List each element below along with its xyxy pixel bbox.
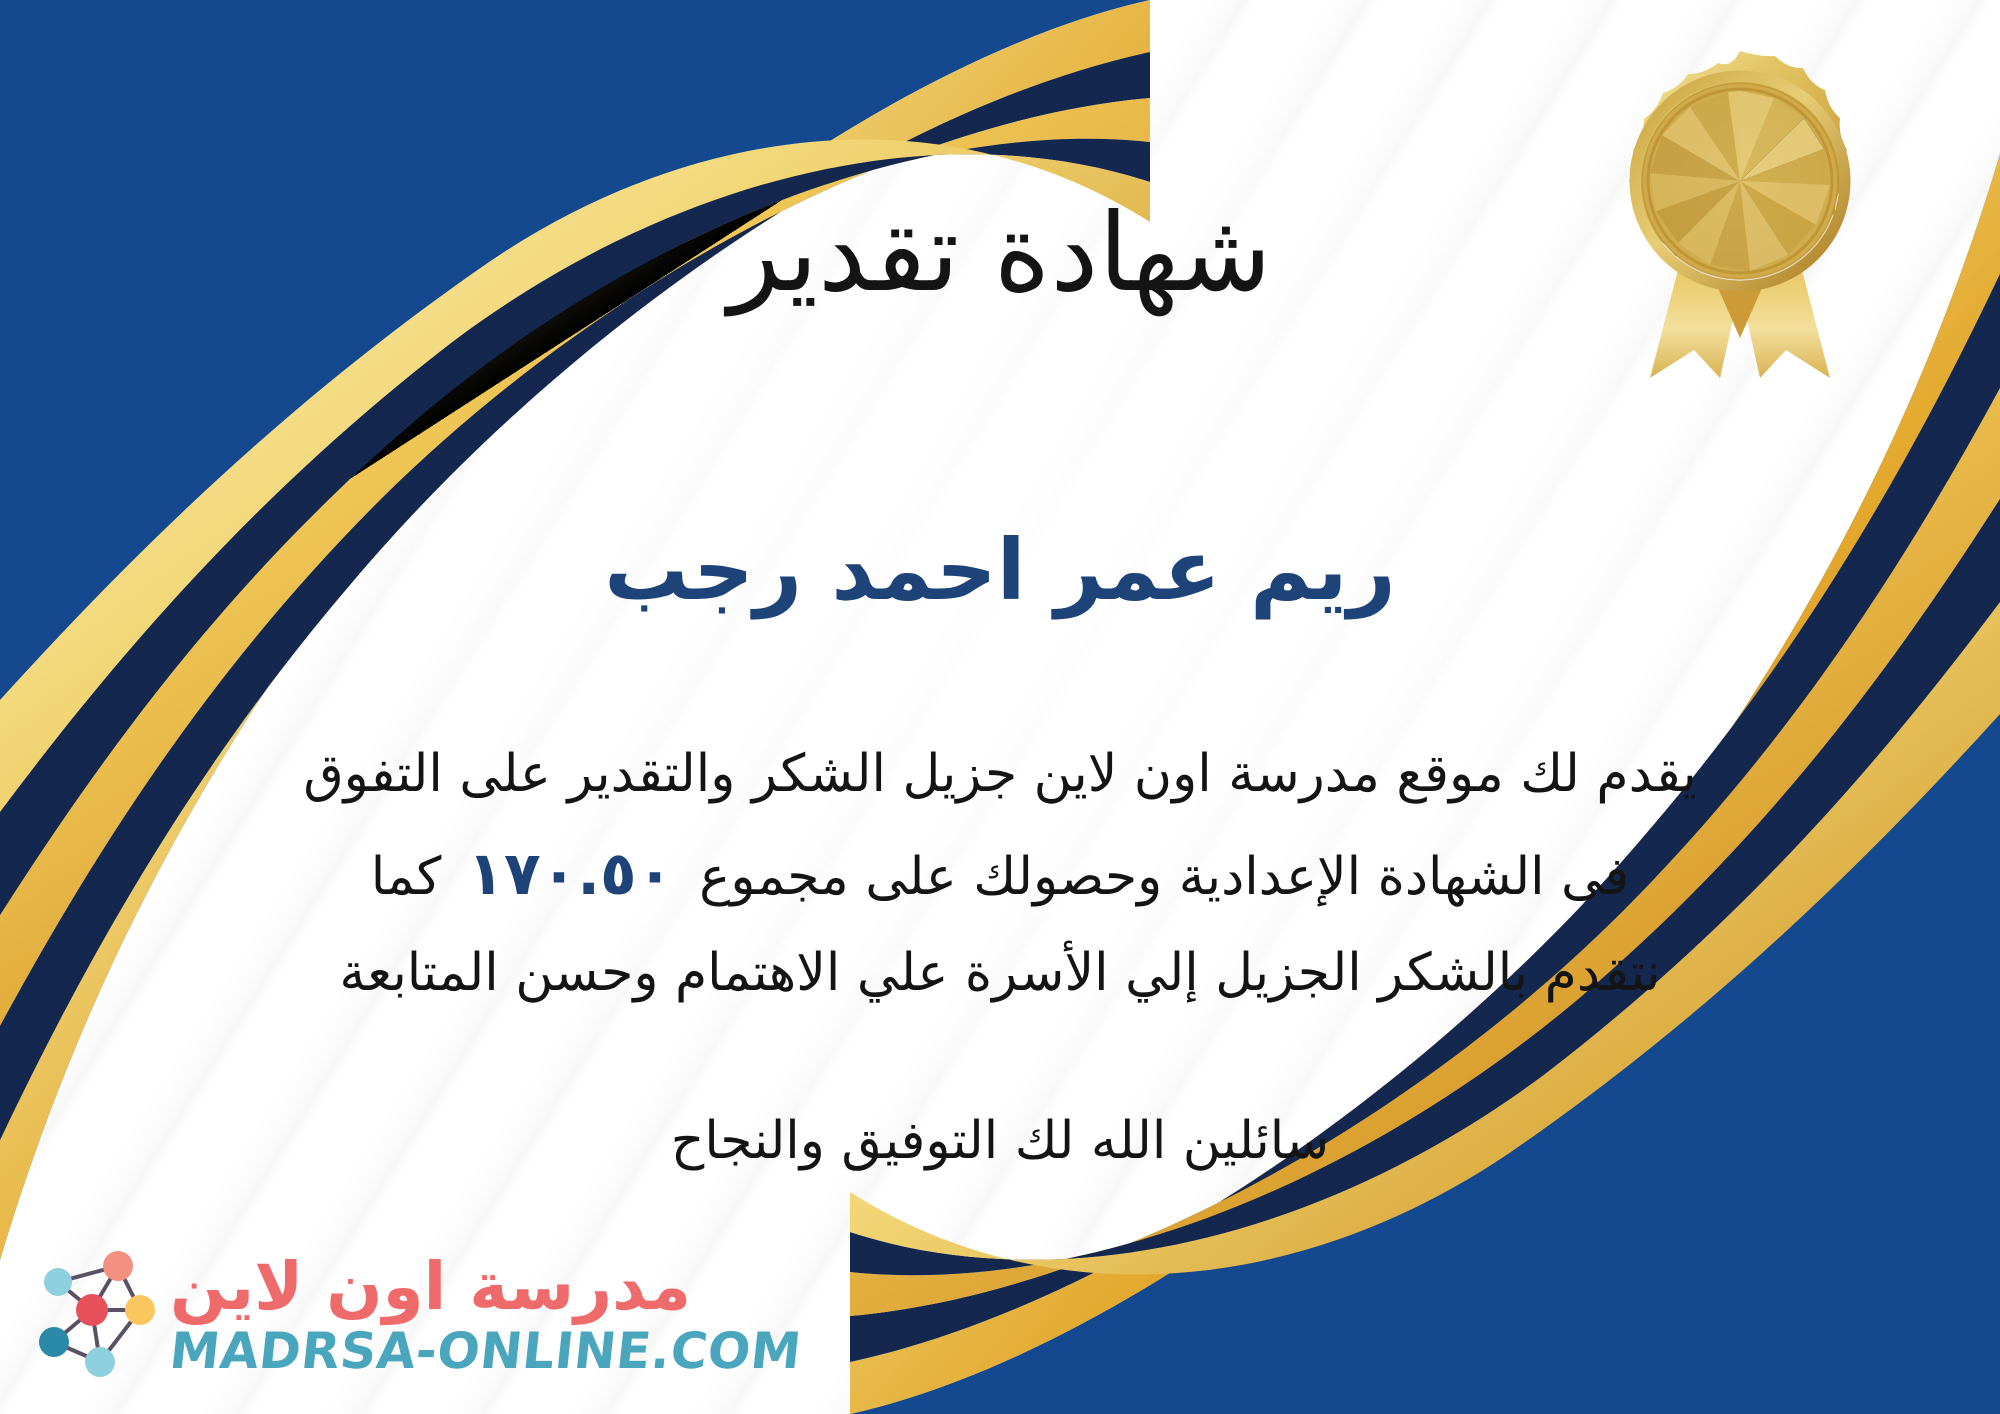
brand-text-block: مدرسة اون لاين MADRSA-ONLINE.COM (170, 1254, 801, 1376)
certificate-document: شهادة تقدير ريم عمر احمد رجب يقدم لك موق… (0, 0, 2000, 1414)
certificate-body: يقدم لك موقع مدرسة اون لاين جزيل الشكر و… (48, 728, 1952, 1020)
body-line-2: فى الشهادة الإعدادية وحصولك على مجموع١٧٠… (48, 821, 1952, 928)
body-line-2-prefix: فى الشهادة الإعدادية وحصولك على مجموع (699, 847, 1629, 907)
brand-logo[interactable]: مدرسة اون لاين MADRSA-ONLINE.COM (28, 1238, 801, 1392)
total-score-value: ١٧٠.٥٠ (441, 839, 699, 909)
network-nodes-icon (28, 1238, 160, 1392)
body-line-2-suffix: كما (371, 847, 442, 907)
certificate-content: شهادة تقدير ريم عمر احمد رجب يقدم لك موق… (0, 0, 2000, 1414)
body-line-1: يقدم لك موقع مدرسة اون لاين جزيل الشكر و… (48, 728, 1952, 821)
brand-website: MADRSA-ONLINE.COM (167, 1326, 803, 1376)
certificate-title: شهادة تقدير (0, 192, 2000, 316)
body-line-3: نتقدم بالشكر الجزيل إلي الأسرة علي الاهت… (48, 927, 1952, 1020)
closing-wishes: سائلين الله لك التوفيق والنجاح (0, 1100, 2000, 1183)
recipient-name: ريم عمر احمد رجب (0, 520, 2000, 621)
brand-name-arabic: مدرسة اون لاين (170, 1254, 691, 1320)
